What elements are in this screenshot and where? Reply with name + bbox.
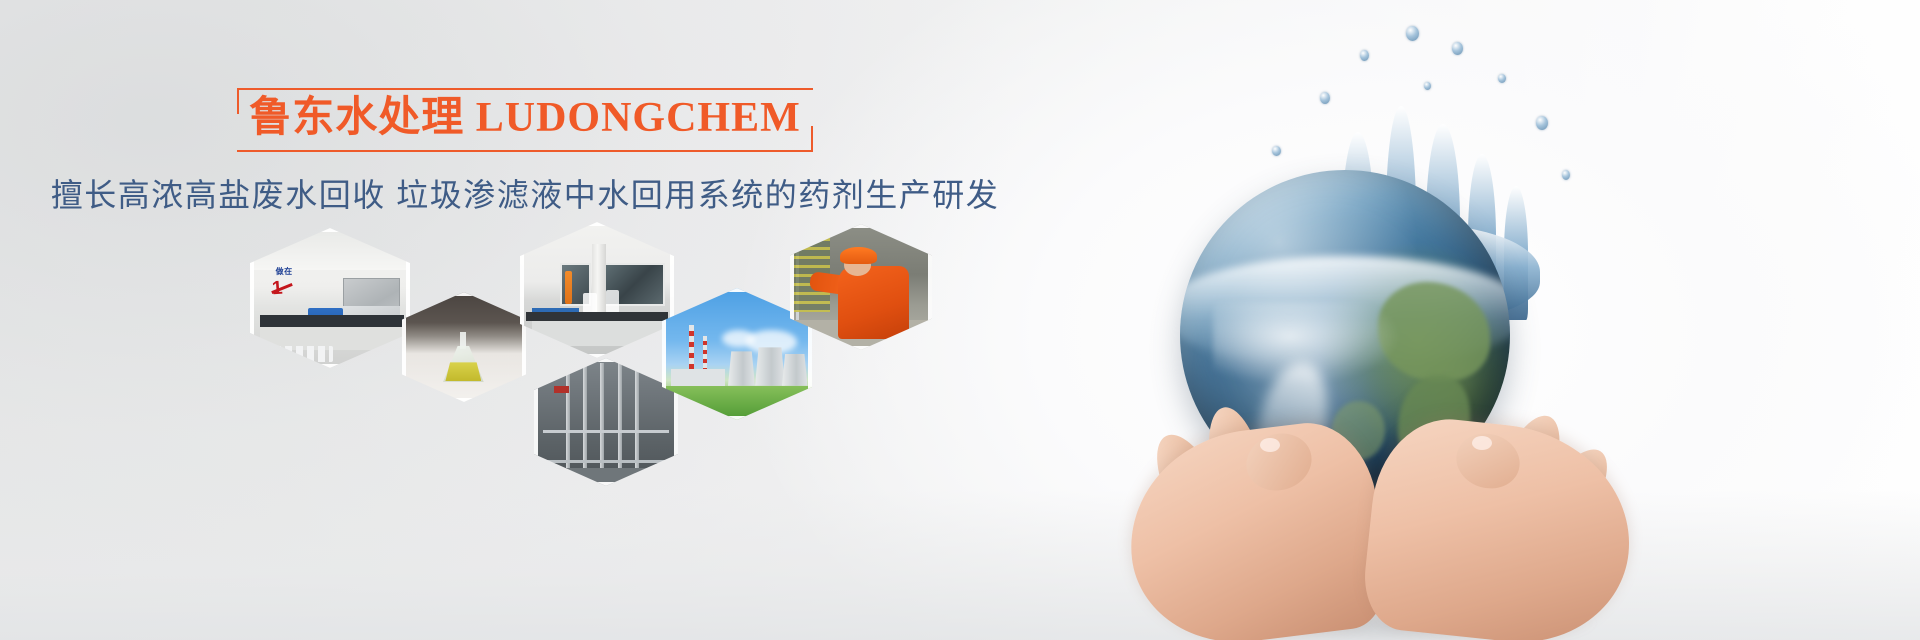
worker-body [838, 266, 909, 339]
grass-field [662, 386, 812, 420]
cupped-hands [1120, 390, 1680, 640]
water-droplet [1562, 170, 1570, 180]
hex-photo-flask [402, 292, 526, 402]
hex-photo-lab-room: 做在 1 [250, 228, 410, 368]
lab-bench-top [526, 312, 668, 322]
lab-bench-body [532, 321, 661, 345]
plant-building [671, 369, 725, 386]
cooling-tower [782, 354, 808, 386]
power-plant-photo [662, 288, 812, 420]
rail-upper [543, 430, 670, 433]
water-droplet [1498, 74, 1506, 83]
cooling-tower [728, 351, 755, 385]
water-droplet [1360, 50, 1369, 61]
safety-helmet-icon [840, 247, 877, 265]
valve-marker [554, 386, 568, 392]
rail-lower [543, 460, 670, 463]
hex-photo-laboratory-glassware [520, 222, 674, 358]
orange-stand [565, 271, 573, 304]
water-droplet [1406, 26, 1419, 41]
hex-photo-industrial-pipes [534, 358, 678, 486]
fingernail [1472, 436, 1492, 450]
water-droplet [1536, 116, 1548, 130]
equipment-rack [793, 229, 830, 312]
fingernail [1260, 438, 1280, 452]
hexagon-photo-cluster: 做在 1 [0, 0, 1060, 640]
hex-photo-power-plant [662, 288, 812, 420]
industrial-pipes-photo [534, 358, 678, 486]
wall-text-top: 做在 [276, 266, 293, 277]
glassware-b [606, 290, 618, 313]
jar-row [263, 346, 333, 363]
lab-room-photo: 做在 1 [250, 228, 410, 368]
ceiling [250, 228, 410, 270]
laboratory-glassware-photo [520, 222, 674, 358]
water-droplet [1272, 146, 1281, 156]
water-droplet [1320, 92, 1330, 104]
glassware-a [583, 293, 597, 313]
flask-liquid [445, 362, 481, 381]
wall-text-number: 1 [272, 278, 284, 301]
cooling-tower [755, 347, 785, 385]
water-droplet [1452, 42, 1463, 55]
floor [534, 468, 678, 486]
water-splash-globe-artwork [1120, 20, 1680, 640]
water-droplet [1424, 82, 1431, 90]
lab-bench-top [260, 315, 404, 328]
flask-photo [402, 292, 526, 402]
hero-banner: 鲁东水处理 LUDONGCHEM 擅长高浓高盐废水回收 垃圾渗滤液中水回用系统的… [0, 0, 1920, 640]
